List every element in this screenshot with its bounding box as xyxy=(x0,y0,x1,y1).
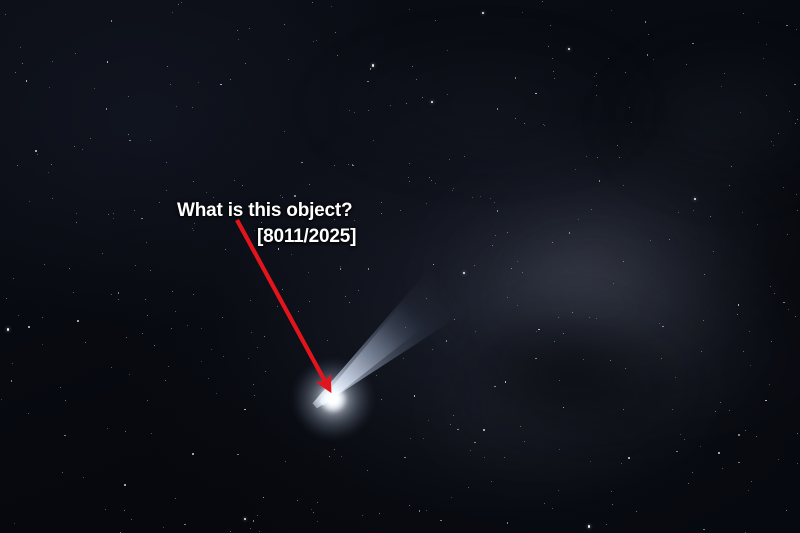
sky-background xyxy=(0,0,800,533)
annotation-tag-text: [8011/2025] xyxy=(257,224,356,250)
night-sky-photo: What is this object? [8011/2025] xyxy=(0,0,800,533)
annotation-question-text: What is this object? xyxy=(177,198,352,224)
